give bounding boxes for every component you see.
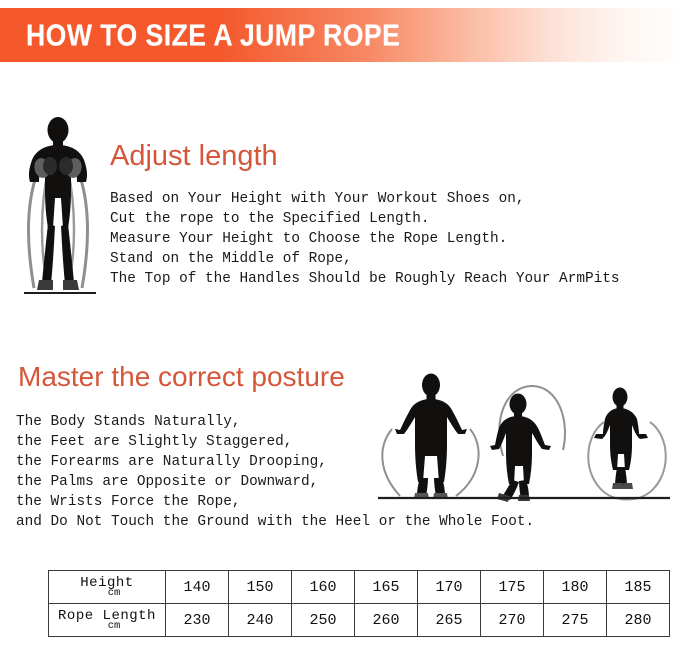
pose-standing <box>382 374 478 500</box>
table-cell: 265 <box>418 604 481 637</box>
table-cell: 280 <box>607 604 670 637</box>
table-cell: 240 <box>229 604 292 637</box>
section-2-line-6: and Do Not Touch the Ground with the Hee… <box>16 512 534 532</box>
section-2-line-4: the Palms are Opposite or Downward, <box>16 472 318 492</box>
table-cell: 230 <box>166 604 229 637</box>
section-1-line-5: The Top of the Handles Should be Roughly… <box>110 269 620 289</box>
section-1-heading: Adjust length <box>110 142 278 171</box>
table-cell: 140 <box>166 571 229 604</box>
table-cell: 250 <box>292 604 355 637</box>
table-cell: 165 <box>355 571 418 604</box>
figure-standing-on-rope <box>6 112 110 302</box>
table-cell: 275 <box>544 604 607 637</box>
section-2-line-2: the Feet are Slightly Staggered, <box>16 432 292 452</box>
table-cell: 160 <box>292 571 355 604</box>
table-cell: 175 <box>481 571 544 604</box>
section-1-line-4: Stand on the Middle of Rope, <box>110 249 352 269</box>
row-label-height: Height cm <box>49 571 166 604</box>
table-cell: 270 <box>481 604 544 637</box>
row-label-height-unit: cm <box>51 588 163 599</box>
section-2-heading: Master the correct posture <box>18 363 345 391</box>
pose-airborne <box>588 388 666 500</box>
section-2-line-1: The Body Stands Naturally, <box>16 412 241 432</box>
section-2-line-3: the Forearms are Naturally Drooping, <box>16 452 327 472</box>
table-cell: 170 <box>418 571 481 604</box>
table-cell: 180 <box>544 571 607 604</box>
row-label-rope-length: Rope Length cm <box>49 604 166 637</box>
table-row: Height cm 140 150 160 165 170 175 180 18… <box>49 571 670 604</box>
section-2-line-5: the Wrists Force the Rope, <box>16 492 241 512</box>
page-header-banner: HOW TO SIZE A JUMP ROPE <box>0 8 679 62</box>
section-1-line-2: Cut the rope to the Specified Length. <box>110 209 430 229</box>
section-1-line-1: Based on Your Height with Your Workout S… <box>110 189 525 209</box>
table-row: Rope Length cm 230 240 250 260 265 270 2… <box>49 604 670 637</box>
figure-three-jump-poses <box>370 372 675 504</box>
table-cell: 150 <box>229 571 292 604</box>
section-1-line-3: Measure Your Height to Choose the Rope L… <box>110 229 507 249</box>
page-title-text: HOW TO SIZE A JUMP ROPE <box>26 20 400 51</box>
pose-mid-swing <box>490 386 565 502</box>
table-cell: 185 <box>607 571 670 604</box>
size-chart-table: Height cm 140 150 160 165 170 175 180 18… <box>48 570 670 637</box>
table-cell: 260 <box>355 604 418 637</box>
